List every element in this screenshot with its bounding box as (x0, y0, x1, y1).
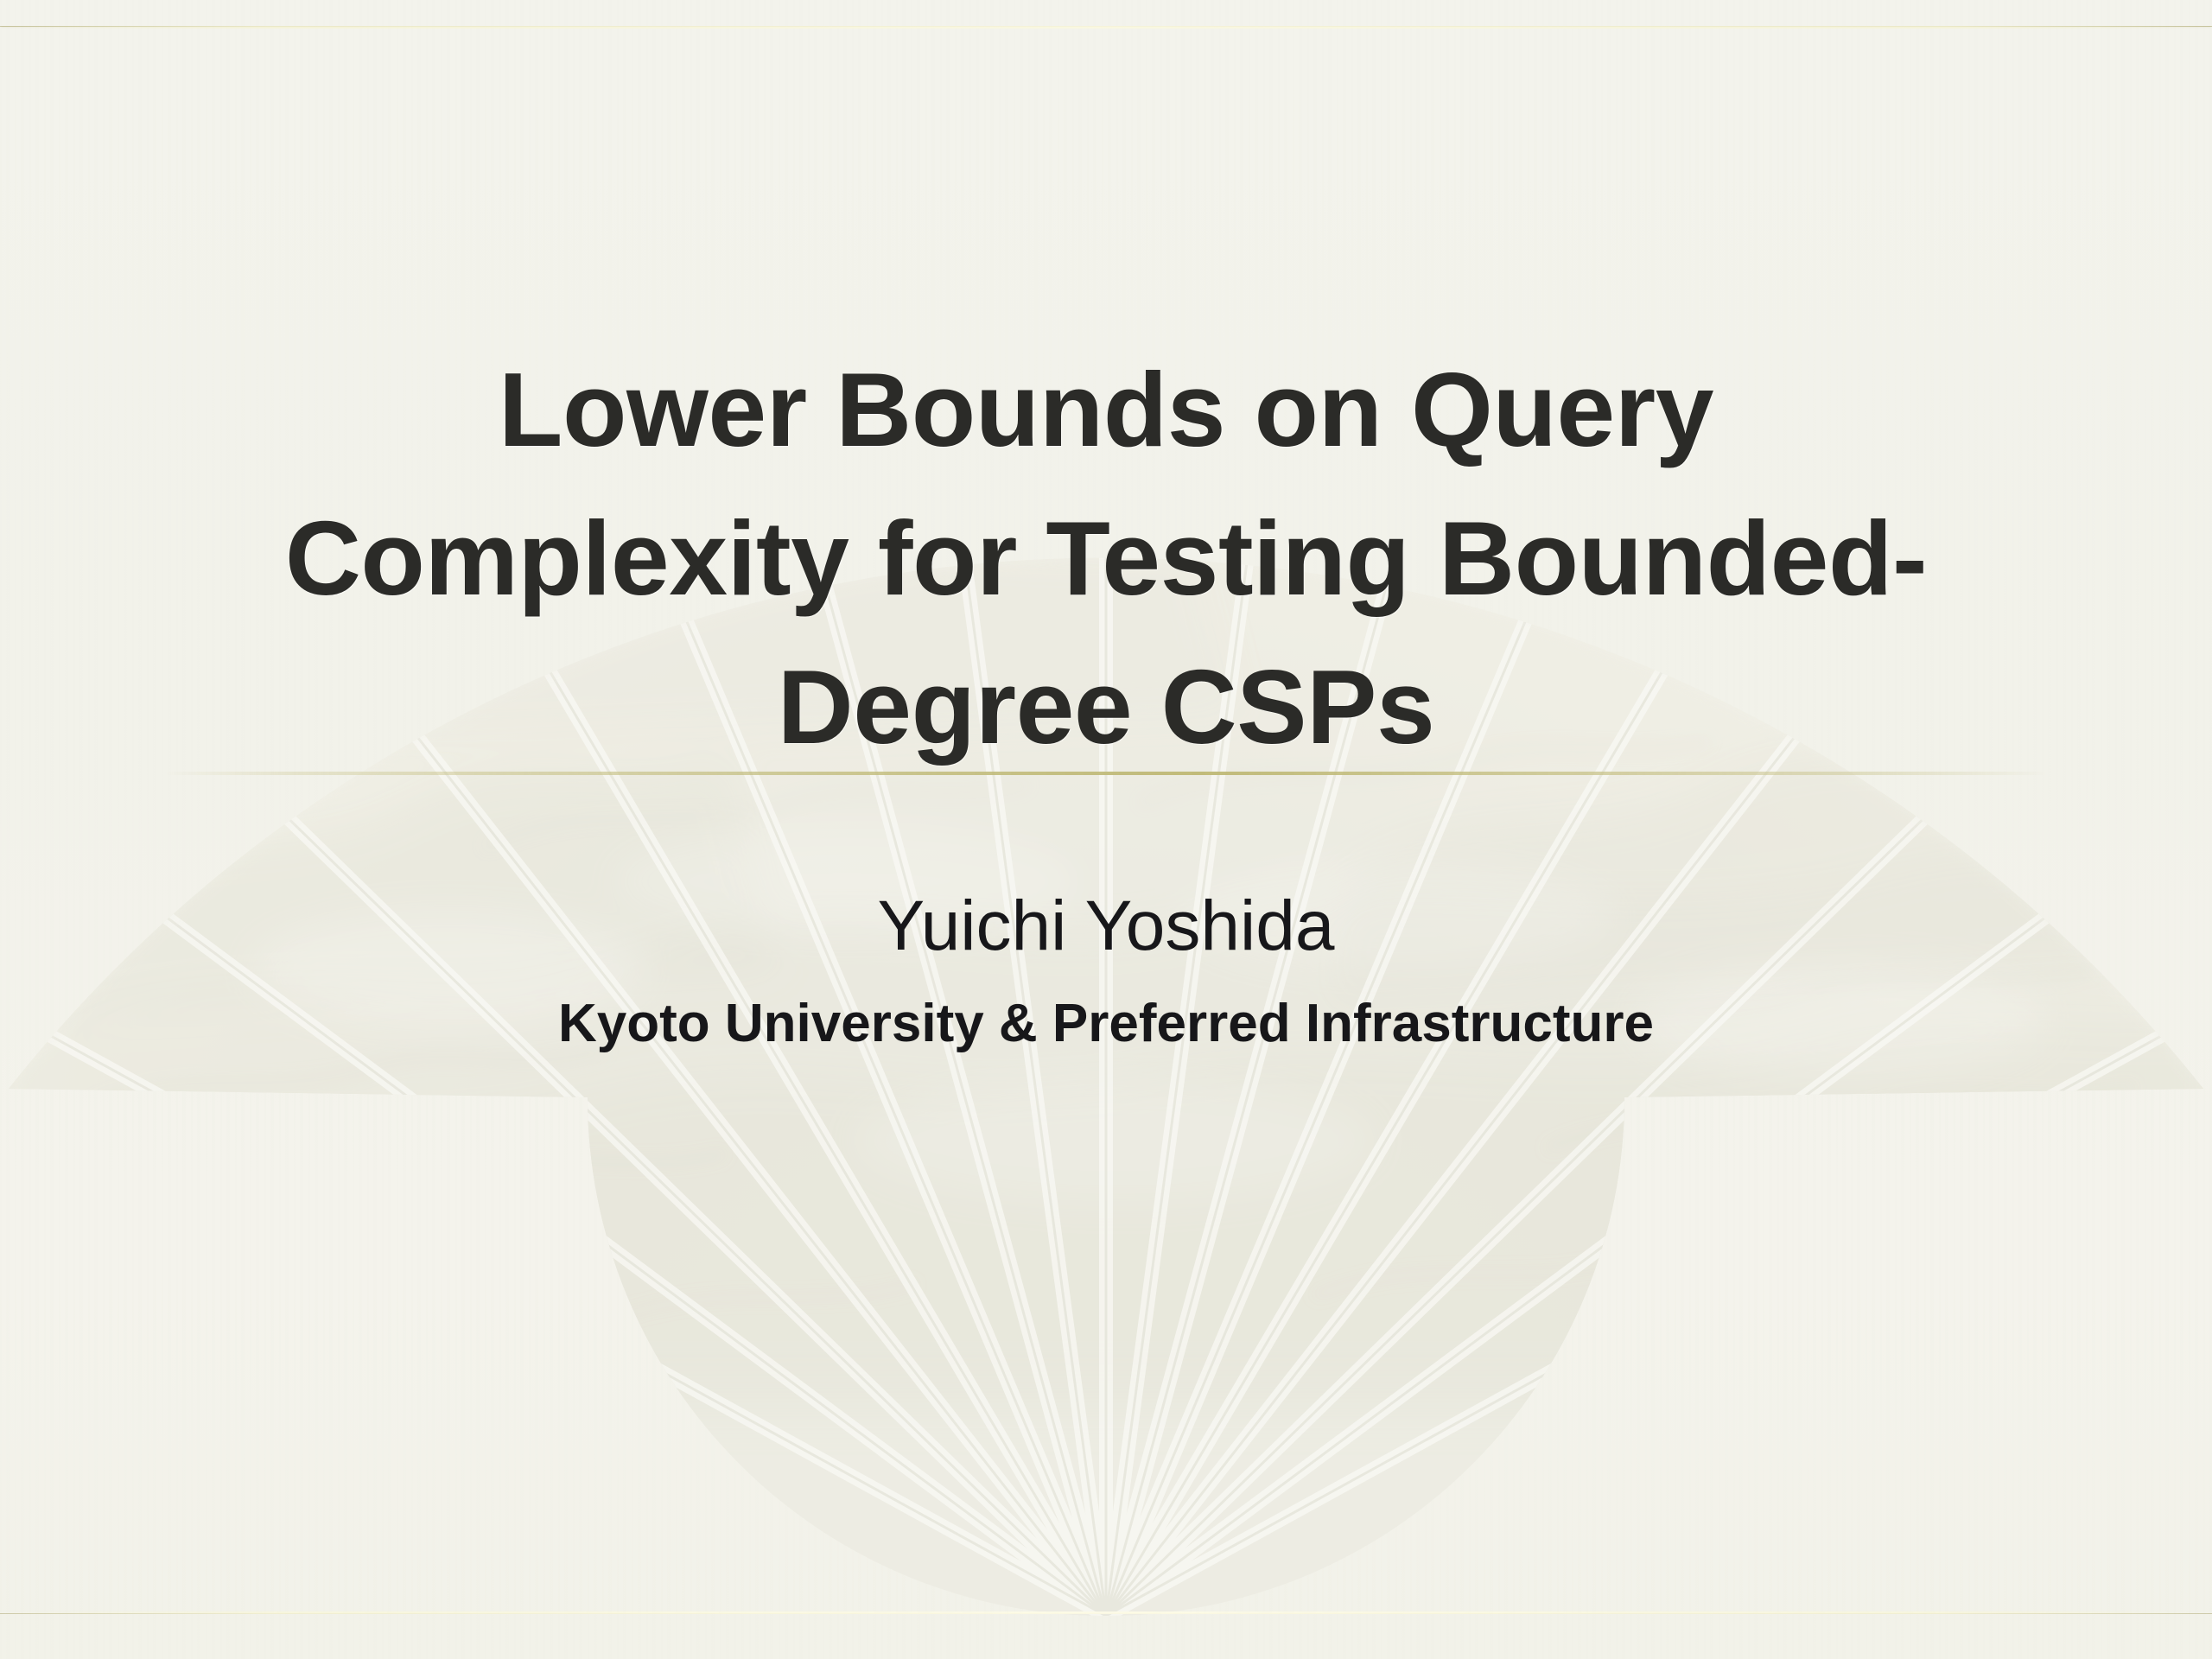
slide-content: Lower Bounds on Query Complexity for Tes… (0, 0, 2212, 1659)
title-line-3: Degree CSPs (112, 632, 2100, 781)
author-affiliation: Kyoto University & Preferred Infrastruct… (112, 990, 2100, 1058)
author-name: Yuichi Yoshida (112, 881, 2100, 971)
title-divider-rule (164, 772, 2048, 775)
title-line-1: Lower Bounds on Query (112, 335, 2100, 484)
page-title: Lower Bounds on Query Complexity for Tes… (112, 335, 2100, 781)
subtitle: Yuichi Yoshida Kyoto University & Prefer… (112, 881, 2100, 1058)
title-line-2: Complexity for Testing Bounded- (112, 484, 2100, 632)
presentation-title-slide: Lower Bounds on Query Complexity for Tes… (0, 0, 2212, 1659)
